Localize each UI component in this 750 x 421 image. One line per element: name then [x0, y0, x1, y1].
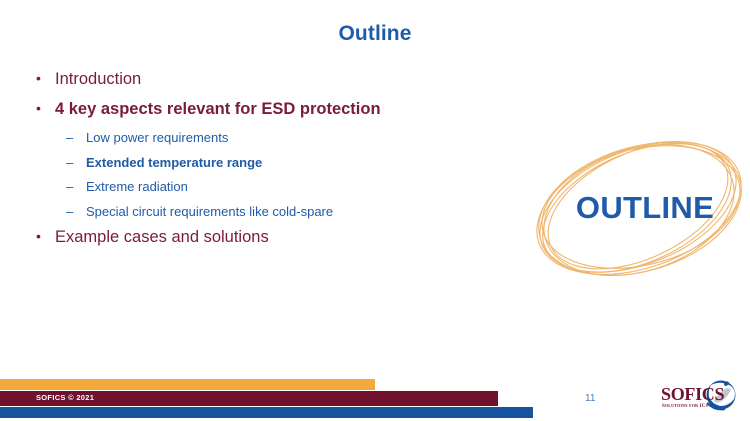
- bullet-label: Example cases and solutions: [55, 228, 269, 247]
- dash-marker-icon: –: [66, 130, 86, 146]
- bullet-label: Introduction: [55, 70, 141, 89]
- footer-copyright: SOFICS © 2021: [36, 393, 94, 402]
- sub-bullet-item-low-power: – Low power requirements: [66, 130, 500, 146]
- sofics-logo: SOFICS Solutions for ICs: [659, 379, 745, 415]
- outline-bullet-list: • Introduction • 4 key aspects relevant …: [30, 70, 500, 258]
- bullet-item-key-aspects: • 4 key aspects relevant for ESD protect…: [30, 100, 500, 119]
- bullet-item-introduction: • Introduction: [30, 70, 500, 89]
- bullet-marker-icon: •: [30, 228, 55, 246]
- logo-wordmark: SOFICS: [661, 385, 724, 403]
- dash-marker-icon: –: [66, 204, 86, 220]
- sub-bullet-label: Low power requirements: [86, 130, 228, 146]
- dash-marker-icon: –: [66, 179, 86, 195]
- outline-graphic-label: OUTLINE: [528, 128, 750, 288]
- page-title: Outline: [0, 22, 750, 46]
- sub-bullet-group: – Low power requirements – Extended temp…: [30, 130, 500, 219]
- footer-bar-blue: [0, 407, 533, 418]
- bullet-marker-icon: •: [30, 70, 55, 88]
- bullet-marker-icon: •: [30, 100, 55, 118]
- slide: Outline • Introduction • 4 key aspects r…: [0, 0, 750, 421]
- bullet-label: 4 key aspects relevant for ESD protectio…: [55, 100, 381, 119]
- sub-bullet-label: Special circuit requirements like cold-s…: [86, 204, 333, 220]
- sub-bullet-label: Extended temperature range: [86, 155, 262, 171]
- outline-graphic: OUTLINE: [528, 128, 750, 288]
- sub-bullet-item-extended-temperature: – Extended temperature range: [66, 155, 500, 171]
- dash-marker-icon: –: [66, 155, 86, 171]
- page-number: 11: [585, 393, 595, 404]
- sub-bullet-item-extreme-radiation: – Extreme radiation: [66, 179, 500, 195]
- logo-tagline: Solutions for ICs: [662, 403, 708, 409]
- sub-bullet-label: Extreme radiation: [86, 179, 188, 195]
- footer-bar-orange: [0, 379, 375, 390]
- sub-bullet-item-cold-spare: – Special circuit requirements like cold…: [66, 204, 500, 220]
- bullet-item-example-cases: • Example cases and solutions: [30, 228, 500, 247]
